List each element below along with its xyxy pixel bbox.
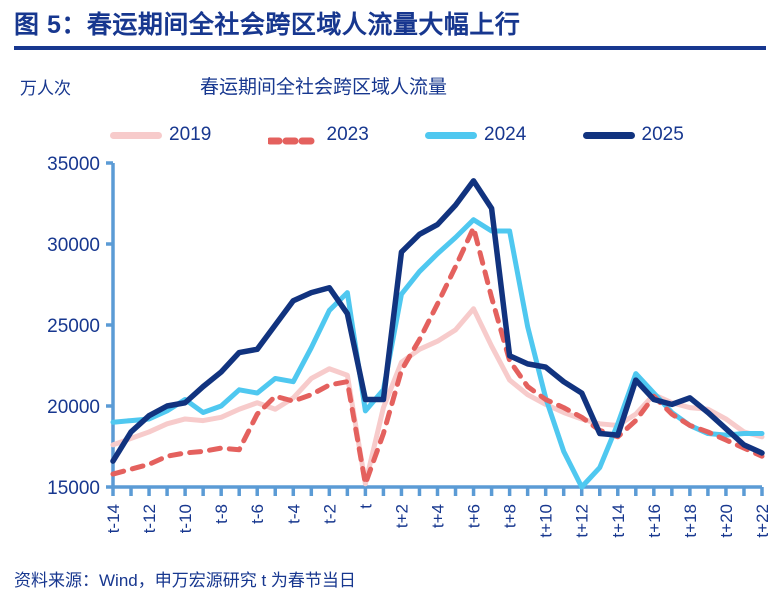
series-line-2024 (113, 220, 762, 487)
legend-item-2023[interactable]: 2023 (268, 124, 426, 146)
x-axis-tick-label: t (356, 504, 375, 509)
x-axis-tick-label: t-4 (284, 504, 303, 524)
y-axis-tick-label: 15000 (47, 478, 100, 499)
legend-swatch-2019 (110, 132, 162, 139)
figure-title: 图 5：春运期间全社会跨区域人流量大幅上行 (14, 12, 766, 40)
legend-swatch-2025 (583, 132, 635, 139)
series-line-2019 (113, 309, 762, 484)
chart-legend: 2019 2023 2024 2025 (110, 124, 740, 146)
x-axis-tick-label: t+8 (501, 504, 520, 528)
y-axis-tick-label: 25000 (47, 316, 100, 337)
x-axis-tick-label: t+14 (609, 504, 628, 538)
x-axis-tick-label: t+4 (429, 504, 448, 528)
x-axis-tick-label: t-12 (140, 504, 159, 533)
x-axis-tick-label: t-8 (212, 504, 231, 524)
legend-label-2019: 2019 (169, 124, 211, 146)
x-axis-tick-label: t+18 (681, 504, 700, 538)
legend-item-2019[interactable]: 2019 (110, 124, 268, 146)
y-axis-tick-label: 30000 (47, 235, 100, 256)
legend-label-2023: 2023 (327, 124, 369, 146)
x-axis-tick-label: t-14 (104, 504, 123, 533)
x-axis-tick-label: t+2 (392, 504, 411, 528)
x-axis-tick-label: t+6 (465, 504, 484, 528)
y-axis-tick-label: 20000 (47, 397, 100, 418)
x-axis-tick-label: t+12 (573, 504, 592, 538)
series-line-2023 (113, 228, 762, 484)
source-note: 资料来源：Wind，申万宏源研究 t 为春节当日 (14, 566, 356, 591)
x-axis-tick-label: t+20 (717, 504, 736, 538)
legend-swatch-2024 (425, 132, 477, 139)
y-axis-tick-label: 35000 (47, 154, 100, 175)
x-axis-tick-label: t+16 (645, 504, 664, 538)
legend-item-2024[interactable]: 2024 (425, 124, 583, 146)
y-axis-unit-label: 万人次 (20, 74, 71, 99)
x-axis-tick-label: t+10 (537, 504, 556, 538)
title-underline (14, 46, 766, 50)
x-axis-tick-label: t-2 (320, 504, 339, 524)
x-axis-tick-label: t+22 (753, 504, 772, 538)
legend-label-2025: 2025 (642, 124, 684, 146)
legend-swatch-2023 (268, 132, 320, 139)
legend-label-2024: 2024 (484, 124, 526, 146)
legend-item-2025[interactable]: 2025 (583, 124, 741, 146)
x-axis-tick-label: t-6 (248, 504, 267, 524)
series-line-2025 (113, 181, 762, 461)
figure-header: 图 5：春运期间全社会跨区域人流量大幅上行 (14, 12, 766, 50)
chart-subtitle: 春运期间全社会跨区域人流量 (200, 72, 447, 99)
x-axis-tick-label: t-10 (176, 504, 195, 533)
